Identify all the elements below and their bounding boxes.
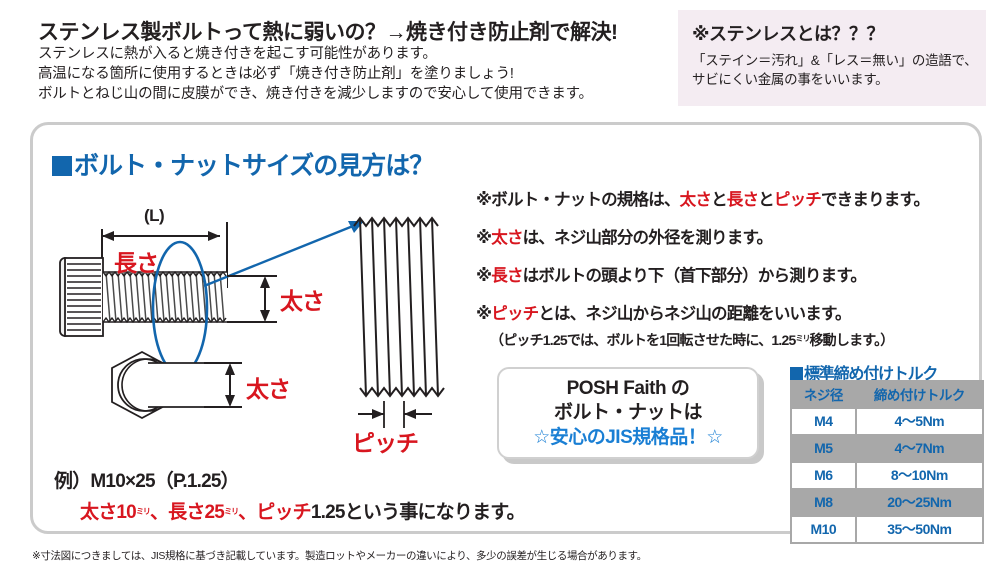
section-title-text: ボルト・ナットサイズの見方は？ bbox=[74, 152, 433, 180]
bullet-item-3: ※長さはボルトの頭より下（首下部分）から測ります。 bbox=[476, 262, 986, 286]
example-keyword: 太さ10 bbox=[80, 502, 136, 523]
bullet-plain-text: ※ bbox=[476, 305, 491, 323]
header-line-3: ボルトとねじ山の間に皮膜ができ、焼き付きを減少しますので安心して使用できます。 bbox=[38, 84, 668, 104]
example-unit-ruby: ミリ bbox=[136, 507, 150, 516]
posh-line-3: ☆安心のJIS規格品！☆ bbox=[533, 425, 723, 450]
square-bullet-icon bbox=[52, 156, 72, 176]
bullet-plain-text: ※ bbox=[476, 229, 491, 247]
bullet-sub-post: 移動します。） bbox=[809, 332, 893, 348]
bullet-plain-text: はボルトの頭より下（首下部分）から測ります。 bbox=[523, 267, 866, 285]
posh-line-2: ボルト・ナットは bbox=[554, 401, 702, 425]
label-L: (L) bbox=[144, 206, 164, 226]
bullet-plain-text: できまります。 bbox=[821, 191, 929, 209]
bolt-nut-dimension-diagram: (L) 長さ 太さ 太さ ピッチ bbox=[52, 196, 472, 466]
bullet-keyword: 太さ bbox=[680, 191, 711, 209]
bullet-sub-ruby: ミリ bbox=[795, 334, 809, 343]
bullet-1-text: ※ボルト・ナットの規格は、太さと長さとピッチできまります。 bbox=[476, 191, 929, 209]
cell-torque-value: 4～5Nm bbox=[857, 409, 982, 434]
stainless-box-title: ※ステンレスとは？？？ bbox=[692, 20, 986, 46]
torque-table: ネジ径 締め付けトルク M44～5NmM54～7NmM68～10NmM820～2… bbox=[790, 380, 984, 544]
example-keyword: ピッチ bbox=[256, 502, 311, 523]
bullet-keyword: 太さ bbox=[491, 229, 522, 247]
cell-screw-size: M4 bbox=[792, 409, 855, 434]
hex-nut bbox=[112, 352, 204, 418]
table-header-torque: 締め付けトルク bbox=[857, 382, 982, 407]
bullet-3-text: ※長さはボルトの頭より下（首下部分）から測ります。 bbox=[476, 267, 866, 285]
label-pitch: ピッチ bbox=[352, 424, 418, 458]
bullet-sub-pre: （ピッチ1.25では、ボルトを1回転させた時に、1.25 bbox=[490, 332, 795, 348]
posh-line-1: POSH Faith の bbox=[567, 377, 690, 401]
header-line-1: ステンレスに熱が入ると焼き付きを起こす可能性があります。 bbox=[38, 44, 668, 64]
cell-screw-size: M8 bbox=[792, 490, 855, 515]
table-row: M44～5Nm bbox=[792, 409, 982, 434]
bullet-plain-text: ※ボルト・ナットの規格は、 bbox=[476, 191, 680, 209]
label-futosa-bolt: 太さ bbox=[280, 282, 324, 316]
bullet-item-1: ※ボルト・ナットの規格は、太さと長さとピッチできまります。 bbox=[476, 186, 986, 210]
header-description: ステンレスに熱が入ると焼き付きを起こす可能性があります。 高温になる箇所に使用す… bbox=[38, 44, 668, 104]
cell-screw-size: M6 bbox=[792, 463, 855, 488]
arrowhead-left bbox=[102, 231, 114, 241]
page-headline: ステンレス製ボルトって熱に弱いの？→焼き付き防止剤で解決! bbox=[38, 16, 658, 46]
bullet-keyword: 長さ bbox=[491, 267, 522, 285]
table-row: M68～10Nm bbox=[792, 463, 982, 488]
example-unit-ruby: ミリ bbox=[224, 507, 238, 516]
bullet-plain-text: と bbox=[711, 191, 727, 209]
bullet-sub-note: （ピッチ1.25では、ボルトを1回転させた時に、1.25ミリ移動します。） bbox=[476, 330, 986, 350]
posh-faith-callout-box: POSH Faith の ボルト・ナットは ☆安心のJIS規格品！☆ bbox=[497, 367, 759, 459]
example-keyword: 、 bbox=[150, 502, 168, 523]
bolt-head bbox=[60, 258, 103, 336]
table-row: M820～25Nm bbox=[792, 490, 982, 515]
header-line-2: 高温になる箇所に使用するときは必ず「焼き付き防止剤」を塗りましょう! bbox=[38, 64, 668, 84]
bolt-threaded-shaft bbox=[103, 272, 227, 322]
torque-table-body: M44～5NmM54～7NmM68～10NmM820～25NmM1035～50N… bbox=[792, 409, 982, 542]
example-keyword: 長さ25 bbox=[168, 502, 224, 523]
table-header-row: ネジ径 締め付けトルク bbox=[792, 382, 982, 407]
cell-screw-size: M10 bbox=[792, 517, 855, 542]
bullet-plain-text: は、ネジ山部分の外径を測ります。 bbox=[523, 229, 773, 247]
arrowhead-right bbox=[208, 231, 220, 241]
table-row: M1035～50Nm bbox=[792, 517, 982, 542]
cell-torque-value: 35～50Nm bbox=[857, 517, 982, 542]
bullet-plain-text: とは、ネジ山からネジ山の距離をいいます。 bbox=[538, 305, 850, 323]
bullet-item-4: ※ピッチとは、ネジ山からネジ山の距離をいいます。 bbox=[476, 300, 986, 324]
magnified-thread-profile bbox=[354, 218, 444, 396]
table-header-size: ネジ径 bbox=[792, 382, 855, 407]
cell-torque-value: 4～7Nm bbox=[857, 436, 982, 461]
bullet-plain-text: と bbox=[758, 191, 774, 209]
example-plain-text: 1.25という事になります。 bbox=[311, 502, 525, 523]
specification-bullet-list: ※ボルト・ナットの規格は、太さと長さとピッチできまります。 ※太さは、ネジ山部分… bbox=[476, 186, 986, 364]
example-keyword: 、 bbox=[238, 502, 256, 523]
section-title: ボルト・ナットサイズの見方は？ bbox=[52, 146, 433, 182]
bolt-diameter-dimension bbox=[227, 276, 277, 322]
cell-torque-value: 8～10Nm bbox=[857, 463, 982, 488]
example-block: 例）M10×25（P.1.25） 太さ10ミリ、長さ25ミリ、ピッチ1.25とい… bbox=[54, 466, 494, 524]
label-nagasa: 長さ bbox=[114, 244, 158, 278]
nut-diameter-dimension bbox=[204, 363, 242, 407]
label-futosa-nut: 太さ bbox=[246, 370, 290, 404]
bullet-keyword: ピッチ bbox=[774, 191, 821, 209]
bullet-2-text: ※太さは、ネジ山部分の外径を測ります。 bbox=[476, 229, 772, 247]
footnote: ※寸法図につきましては、JIS規格に基づき記載しています。製造ロットやメーカーの… bbox=[32, 548, 712, 563]
cell-torque-value: 20～25Nm bbox=[857, 490, 982, 515]
bullet-plain-text: ※ bbox=[476, 267, 491, 285]
stainless-definition-box: ※ステンレスとは？？？ 「ステイン＝汚れ」&「レス＝無い」の造語で、 サビにくい… bbox=[678, 10, 986, 106]
example-line-1: 例）M10×25（P.1.25） bbox=[54, 466, 494, 493]
square-bullet-icon-torque bbox=[790, 367, 803, 380]
bullet-4-text: ※ピッチとは、ネジ山からネジ山の距離をいいます。 bbox=[476, 305, 851, 323]
cell-screw-size: M5 bbox=[792, 436, 855, 461]
example-line-2: 太さ10ミリ、長さ25ミリ、ピッチ1.25という事になります。 bbox=[54, 497, 494, 524]
table-row: M54～7Nm bbox=[792, 436, 982, 461]
stainless-box-line-2: サビにくい金属の事をいいます。 bbox=[692, 70, 986, 89]
bullet-keyword: ピッチ bbox=[491, 305, 538, 323]
bullet-item-2: ※太さは、ネジ山部分の外径を測ります。 bbox=[476, 224, 986, 248]
bullet-keyword: 長さ bbox=[727, 191, 758, 209]
stainless-box-line-1: 「ステイン＝汚れ」&「レス＝無い」の造語で、 bbox=[692, 51, 986, 70]
torque-table-element: ネジ径 締め付けトルク M44～5NmM54～7NmM68～10NmM820～2… bbox=[790, 380, 984, 544]
